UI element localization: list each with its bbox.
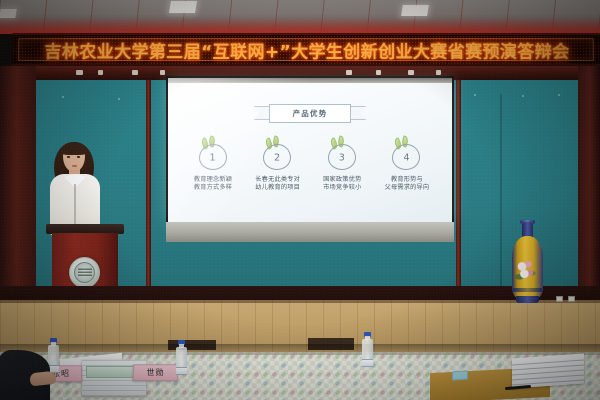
presenter-eye [67,156,70,158]
panel-stud [558,94,560,96]
advantage-caption: 教育形势与 父母需求的导向 [385,176,430,192]
green-folder [86,366,138,378]
vase-foot [516,296,539,303]
beam-fixture [160,70,165,75]
name-card-text: 世勋 [146,367,164,378]
advantage-number: 2 [274,152,280,163]
ceiling-light-panel [0,9,17,18]
screen-lower-wall [166,222,454,242]
beam-fixture [98,70,103,75]
sticky-note [452,370,468,380]
number-circle: 4 [392,144,420,170]
sprout-icon: 4 [391,140,422,171]
sprout-icon: 2 [262,140,293,171]
bottle-label [362,359,373,367]
beam-fixture [76,70,83,75]
presenter-eye [77,156,80,158]
slide-advantages-row: 1 教育理念新颖 教育方式多样 2 长春无此类专对 幼儿教育的项目 [182,140,438,192]
slide-ribbon: 产品优势 [254,104,366,124]
vase-painted-flowers [516,258,536,282]
projection-screen: 产品优势 1 教育理念新颖 教育方式多样 2 [168,78,452,222]
ceiling-light-panel [169,1,197,13]
ceiling [0,0,600,34]
slide-title: 产品优势 [293,108,328,119]
ribbon-box: 产品优势 [269,104,351,123]
panel-stud [522,95,524,97]
crest-mark [78,268,92,277]
advantage-item-1: 1 教育理念新颖 教育方式多样 [182,140,244,192]
wall-wood-trim-left [0,66,36,306]
photo-scene: 吉林农业大学第三届“互联网+”大学生创新创业大赛省赛预演答辩会 [0,0,600,400]
led-banner: 吉林农业大学第三届“互联网+”大学生创新创业大赛省赛预演答辩会 [12,33,600,66]
advantage-caption: 教育理念新颖 教育方式多样 [194,176,232,192]
name-card: 世勋 [133,364,178,380]
ceiling-light-panel [401,5,429,16]
crest-inner-ring [74,262,95,283]
bottle-label [176,367,187,375]
beam-fixture [346,70,352,75]
panel-stud [62,96,64,98]
number-circle: 2 [263,144,291,170]
led-banner-vignette [12,35,600,64]
wall-outlet [556,296,563,302]
advantage-caption: 长春无此类专对 幼儿教育的项目 [255,176,300,192]
advantage-number: 4 [403,152,409,163]
document-stack-right [512,353,584,388]
advantage-caption: 国家政策优势 市场竞争较小 [323,176,361,192]
number-circle: 1 [199,144,227,170]
sprout-icon: 3 [327,140,358,171]
panel-stud [118,98,120,100]
screen-top-bar [168,78,452,83]
wall-divider [146,80,151,306]
table-top-edge [0,352,600,355]
wall-outlet [568,296,575,302]
advantage-number: 3 [339,152,345,163]
bottle-body [362,339,373,367]
decorative-vase [508,222,548,314]
university-crest-icon [69,257,100,288]
panel-seam [500,94,502,306]
sprout-icon: 1 [198,140,229,171]
presenter-mouth [72,165,77,167]
beam-fixture [132,70,138,75]
panel-stud [474,94,476,96]
wall-divider [456,80,461,306]
vase-band [513,288,542,292]
advantage-item-2: 2 长春无此类专对 幼儿教育的项目 [247,140,309,192]
ceiling-red-glow [0,18,600,34]
seated-attendee-hand [29,371,56,387]
advantage-number: 1 [209,152,215,163]
beam-fixture [408,70,414,75]
beam-fixture [436,70,441,75]
advantage-item-3: 3 国家政策优势 市场竞争较小 [311,140,373,192]
number-circle: 3 [328,144,356,170]
bottle-body [176,347,187,375]
wall-wood-trim-right [578,66,600,306]
advantage-item-4: 4 教育形势与 父母需求的导向 [376,140,438,192]
beam-fixture [376,70,381,75]
